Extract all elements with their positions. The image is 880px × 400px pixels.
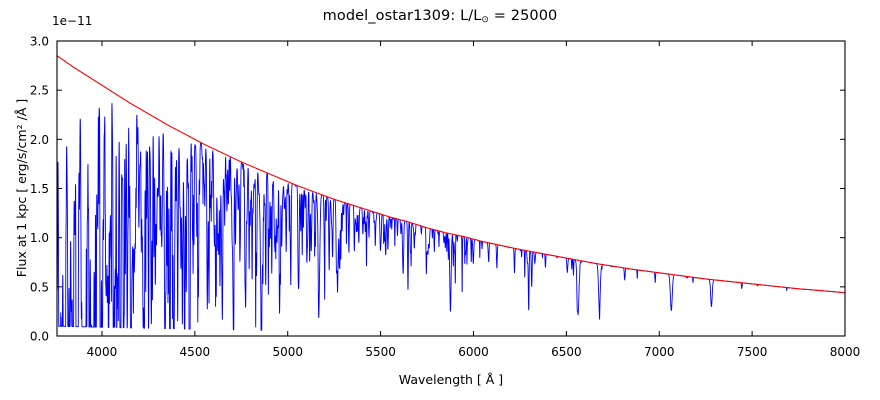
plot-axes: 4000450050005500600065007000750080000.00… — [0, 0, 880, 400]
x-tick-label: 5500 — [365, 345, 396, 359]
x-axis-label: Wavelength [ Å ] — [57, 372, 845, 387]
y-tick-label: 1.0 — [30, 231, 49, 245]
x-tick-label: 7000 — [644, 345, 675, 359]
x-tick-label: 4500 — [180, 345, 211, 359]
x-tick-label: 6500 — [551, 345, 582, 359]
x-tick-label: 6000 — [458, 345, 489, 359]
y-tick-label: 0.0 — [30, 330, 49, 344]
figure-canvas: model_ostar1309: L/L⊙ = 25000 1e−11 4000… — [0, 0, 880, 400]
y-tick-label: 0.5 — [30, 280, 49, 294]
y-axis-label-text: Flux at 1 kpc [ erg/s/cm² /Å ] — [14, 99, 29, 277]
y-tick-label: 3.0 — [30, 35, 49, 49]
y-axis-label: Flux at 1 kpc [ erg/s/cm² /Å ] — [14, 38, 29, 338]
x-axis-label-text: Wavelength [ Å ] — [399, 372, 503, 387]
x-tick-label: 8000 — [830, 345, 861, 359]
x-tick-label: 7500 — [737, 345, 768, 359]
y-tick-label: 2.5 — [30, 84, 49, 98]
y-tick-label: 1.5 — [30, 182, 49, 196]
x-tick-label: 5000 — [272, 345, 303, 359]
y-tick-label: 2.0 — [30, 133, 49, 147]
x-tick-label: 4000 — [87, 345, 118, 359]
